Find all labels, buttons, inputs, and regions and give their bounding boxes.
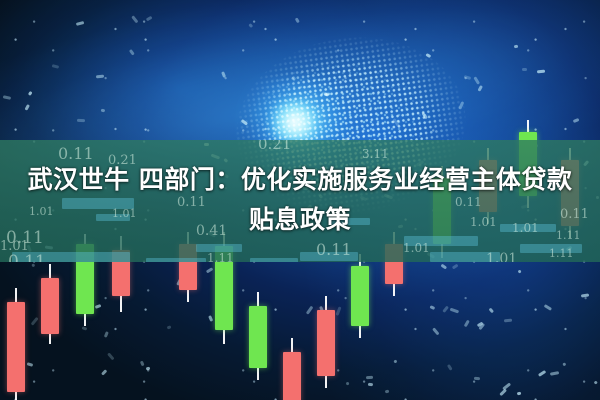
data-chip xyxy=(146,258,206,262)
candle-body xyxy=(283,352,301,400)
headline-line-2: 贴息政策 xyxy=(8,200,592,240)
overlay-number: 3.11 xyxy=(362,148,389,160)
page-title: 武汉世牛 四部门：优化实施服务业经营主体贷款 贴息政策 xyxy=(0,160,600,240)
candle-body xyxy=(41,278,59,334)
data-chip xyxy=(250,258,298,262)
overlay-number: 1.11 xyxy=(207,252,234,262)
candle-body xyxy=(7,302,25,392)
candlestick-up xyxy=(351,254,369,338)
news-cover-image: 0.110.211.111.011.010.210.110.110.410.11… xyxy=(0,0,600,400)
candle-body xyxy=(249,306,267,368)
overlay-number: 0.11 xyxy=(316,242,352,258)
candle-body xyxy=(351,266,369,326)
overlay-number: 1.01 xyxy=(486,252,517,262)
overlay-number: 1.11 xyxy=(549,248,574,259)
overlay-number: 0.11 xyxy=(8,254,46,262)
overlay-number: 0.21 xyxy=(258,140,291,152)
candle-body xyxy=(317,310,335,376)
candlestick-up xyxy=(249,292,267,380)
candlestick-down xyxy=(283,338,301,400)
candlestick-down xyxy=(7,288,25,400)
overlay-number: 1.01 xyxy=(403,242,430,254)
candlestick-down xyxy=(317,296,335,388)
overlay-number: 1.01 xyxy=(0,240,29,253)
headline-line-1: 武汉世牛 四部门：优化实施服务业经营主体贷款 xyxy=(8,160,592,200)
overlay-number: 1.11 xyxy=(368,140,397,141)
candlestick-down xyxy=(41,264,59,344)
